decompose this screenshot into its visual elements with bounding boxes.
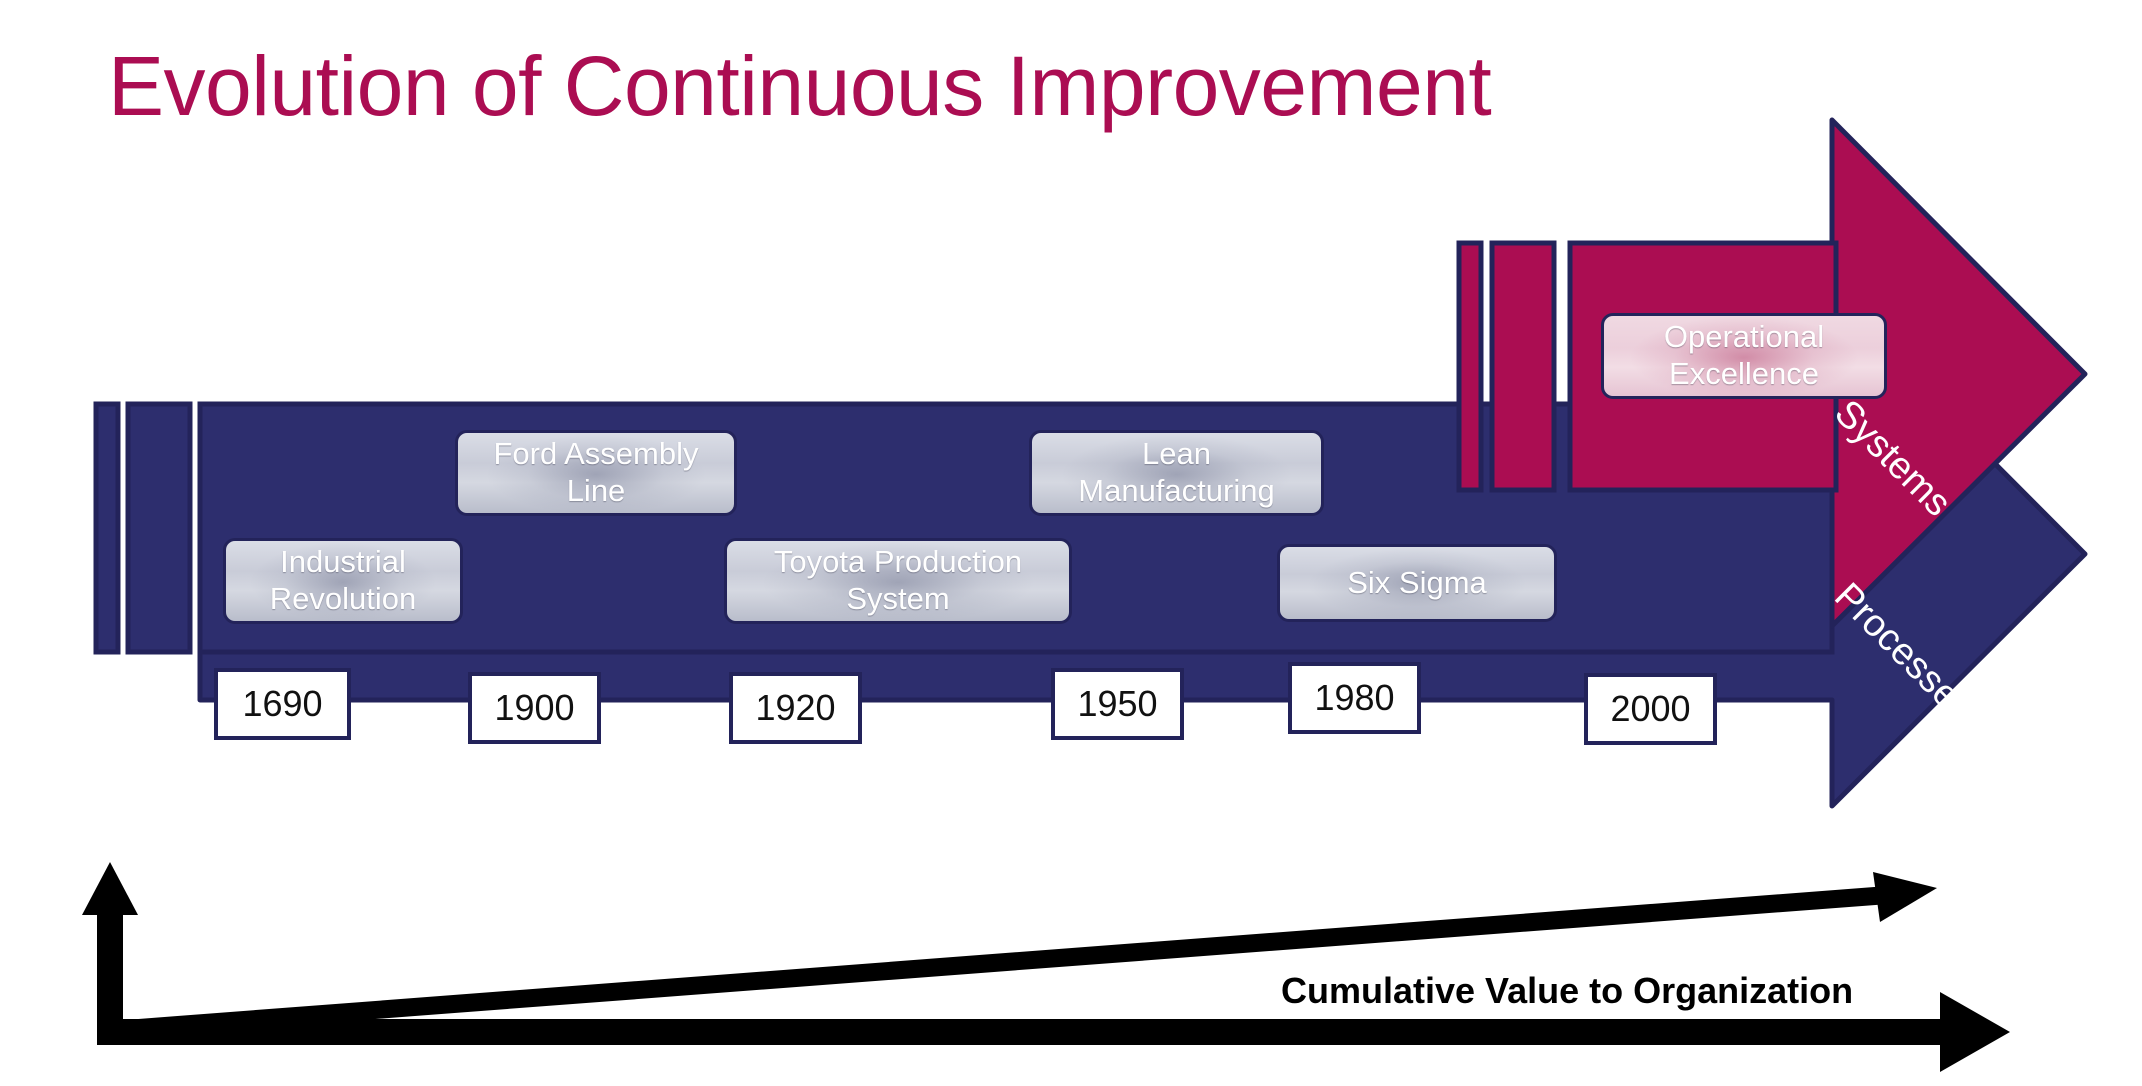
navy-stripe-thin — [96, 404, 118, 652]
year-label: 1980 — [1314, 677, 1394, 719]
year-box-1900[interactable]: 1900 — [468, 672, 601, 744]
milestone-label: Ford Assembly Line — [468, 436, 724, 509]
value-axis-x-shaft — [97, 1019, 1957, 1045]
milestone-chip-toyota-production-system[interactable]: Toyota Production System — [724, 538, 1072, 624]
milestone-label: Lean Manufacturing — [1042, 436, 1311, 509]
year-label: 2000 — [1610, 688, 1690, 730]
crimson-stripe-thin — [1459, 243, 1481, 490]
value-axis-x-arrowhead — [1940, 992, 2010, 1072]
year-label: 1690 — [242, 683, 322, 725]
cumulative-value-trend-arrowhead — [1873, 872, 1937, 922]
milestone-chip-industrial-revolution[interactable]: Industrial Revolution — [223, 538, 463, 624]
year-label: 1950 — [1077, 683, 1157, 725]
year-label: 1920 — [755, 687, 835, 729]
milestone-chip-operational-excellence[interactable]: Operational Excellence — [1601, 313, 1887, 399]
milestone-chip-six-sigma[interactable]: Six Sigma — [1277, 544, 1557, 622]
year-label: 1900 — [494, 687, 574, 729]
year-box-2000[interactable]: 2000 — [1584, 673, 1717, 745]
milestone-chip-ford-assembly-line[interactable]: Ford Assembly Line — [455, 430, 737, 516]
milestone-label: Six Sigma — [1347, 565, 1487, 602]
navy-stripe-wide — [128, 404, 190, 652]
value-axis-y-arrowhead — [82, 862, 138, 915]
year-box-1950[interactable]: 1950 — [1051, 668, 1184, 740]
crimson-stripe-wide — [1492, 243, 1554, 490]
year-box-1920[interactable]: 1920 — [729, 672, 862, 744]
slide-canvas: Evolution of Continuous Improvement Syst… — [0, 0, 2142, 1086]
milestone-label: Operational Excellence — [1614, 319, 1874, 392]
cumulative-value-axis-label: Cumulative Value to Organization — [1281, 970, 1853, 1012]
year-box-1980[interactable]: 1980 — [1288, 662, 1421, 734]
milestone-chip-lean-manufacturing[interactable]: Lean Manufacturing — [1029, 430, 1324, 516]
milestone-label: Toyota Production System — [737, 544, 1059, 617]
milestone-label: Industrial Revolution — [236, 544, 450, 617]
year-box-1690[interactable]: 1690 — [214, 668, 351, 740]
